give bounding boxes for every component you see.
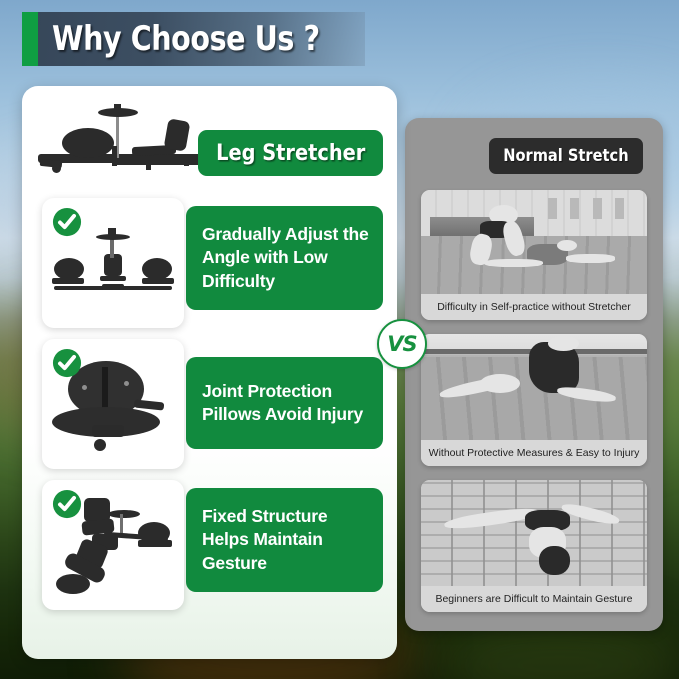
page-title: Why Choose Us ? (52, 19, 320, 59)
dancer-handstand-brick-wall-photo (421, 480, 647, 586)
photo-caption: Beginners are Difficult to Maintain Gest… (421, 586, 647, 612)
photo-caption: Difficulty in Self-practice without Stre… (421, 294, 647, 320)
vs-badge: VS (377, 319, 427, 369)
photo-caption: Without Protective Measures & Easy to In… (421, 440, 647, 466)
header-accent-bar (22, 12, 38, 66)
feature-text-box: Fixed Structure Helps Maintain Gesture (186, 488, 383, 592)
feature-label: Gradually Adjust the Angle with Low Diff… (202, 223, 369, 293)
two-dancers-floor-stretch-photo (421, 190, 647, 294)
feature-text-box: Joint Protection Pillows Avoid Injury (186, 357, 383, 449)
header-banner: Why Choose Us ? (38, 12, 365, 66)
feature-label: Joint Protection Pillows Avoid Injury (202, 380, 369, 427)
list-item: Without Protective Measures & Easy to In… (421, 334, 647, 466)
list-item: Difficulty in Self-practice without Stre… (421, 190, 647, 320)
leg-stretcher-front-view-icon (42, 198, 184, 328)
leg-stretcher-machine-icon (34, 102, 214, 180)
normal-stretch-badge-label: Normal Stretch (503, 146, 628, 166)
vs-badge-label: VS (387, 332, 416, 356)
leg-stretcher-badge: Leg Stretcher (198, 130, 383, 176)
infographic-canvas: Why Choose Us ? Normal Stretch (0, 0, 679, 679)
list-item: Beginners are Difficult to Maintain Gest… (421, 480, 647, 612)
feature-label: Fixed Structure Helps Maintain Gesture (202, 505, 369, 575)
check-circle-icon (52, 489, 82, 519)
check-circle-icon (52, 207, 82, 237)
normal-stretch-panel: Normal Stretch (405, 118, 663, 631)
joint-protection-pillow-icon (42, 339, 184, 469)
leg-stretcher-angle-view-icon (42, 480, 184, 610)
check-circle-icon (52, 348, 82, 378)
feature-text-box: Gradually Adjust the Angle with Low Diff… (186, 206, 383, 310)
normal-stretch-badge: Normal Stretch (489, 138, 643, 174)
header: Why Choose Us ? (22, 12, 365, 66)
seated-dancer-side-split-photo (421, 334, 647, 440)
leg-stretcher-badge-label: Leg Stretcher (216, 141, 365, 166)
leg-stretcher-panel: Leg Stretcher (22, 86, 397, 659)
